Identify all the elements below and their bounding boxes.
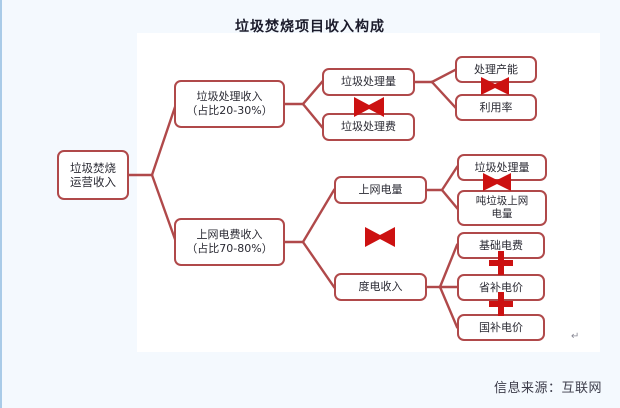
edge-l2a1-to-l3a2 xyxy=(432,82,455,107)
paragraph-mark: ↵ xyxy=(571,331,579,342)
node-garbage-volume-right-label: 垃圾处理量 xyxy=(472,161,533,175)
node-utilization-rate[interactable]: 利用率 xyxy=(455,94,537,121)
node-per-kwh-revenue-label: 度电收入 xyxy=(356,280,406,294)
node-garbage-treatment-revenue[interactable]: 垃圾处理收入 （占比20-30%） xyxy=(174,80,285,128)
node-utilization-rate-label: 利用率 xyxy=(477,101,516,115)
node-grid-electricity-volume-label: 上网电量 xyxy=(356,183,406,197)
node-root[interactable]: 垃圾焚烧 运营收入 xyxy=(57,150,129,200)
node-per-kwh-revenue[interactable]: 度电收入 xyxy=(334,273,427,301)
node-garbage-fee-label: 垃圾处理费 xyxy=(338,120,399,134)
node-grid-power-revenue[interactable]: 上网电费收入 （占比70-80%） xyxy=(174,218,285,266)
edge-l2a1-to-l3a1 xyxy=(432,70,455,82)
node-garbage-volume[interactable]: 垃圾处理量 xyxy=(322,68,415,96)
edge-l2b1-to-l3b1 xyxy=(442,167,457,190)
node-garbage-volume-right[interactable]: 垃圾处理量 xyxy=(457,154,547,181)
source-note: 信息来源：互联网 xyxy=(494,377,602,396)
node-grid-electricity-volume[interactable]: 上网电量 xyxy=(334,176,427,204)
edge-l1b-to-l2b2 xyxy=(303,242,334,287)
node-treatment-capacity[interactable]: 处理产能 xyxy=(455,56,537,83)
edge-l1a-to-l2a1 xyxy=(303,82,322,104)
edge-l2b2-to-l3c3 xyxy=(440,287,457,327)
edge-root-to-l1a xyxy=(152,104,176,175)
node-provincial-subsidy-price[interactable]: 省补电价 xyxy=(457,274,545,301)
node-garbage-treatment-revenue-label: 垃圾处理收入 （占比20-30%） xyxy=(183,90,275,118)
edge-l2b1-to-l3b2 xyxy=(442,190,457,208)
node-provincial-subsidy-price-label: 省补电价 xyxy=(476,281,526,295)
node-treatment-capacity-label: 处理产能 xyxy=(471,63,521,77)
node-garbage-volume-label: 垃圾处理量 xyxy=(338,75,399,89)
node-kwh-per-ton-label: 吨垃圾上网 电量 xyxy=(473,195,532,221)
node-grid-power-revenue-label: 上网电费收入 （占比70-80%） xyxy=(183,228,275,256)
node-root-label: 垃圾焚烧 运营收入 xyxy=(67,161,119,190)
node-national-subsidy-price-label: 国补电价 xyxy=(476,321,526,335)
edge-l2b2-to-l3c1 xyxy=(440,245,457,287)
node-garbage-fee[interactable]: 垃圾处理费 xyxy=(322,113,415,141)
edge-l1a-to-l2a2 xyxy=(303,104,322,127)
node-base-tariff[interactable]: 基础电费 xyxy=(457,232,545,259)
node-kwh-per-ton[interactable]: 吨垃圾上网 电量 xyxy=(457,190,547,226)
node-base-tariff-label: 基础电费 xyxy=(476,239,526,253)
edge-l1b-to-l2b1 xyxy=(303,190,334,242)
node-national-subsidy-price[interactable]: 国补电价 xyxy=(457,314,545,341)
edge-root-to-l1b xyxy=(152,175,176,242)
